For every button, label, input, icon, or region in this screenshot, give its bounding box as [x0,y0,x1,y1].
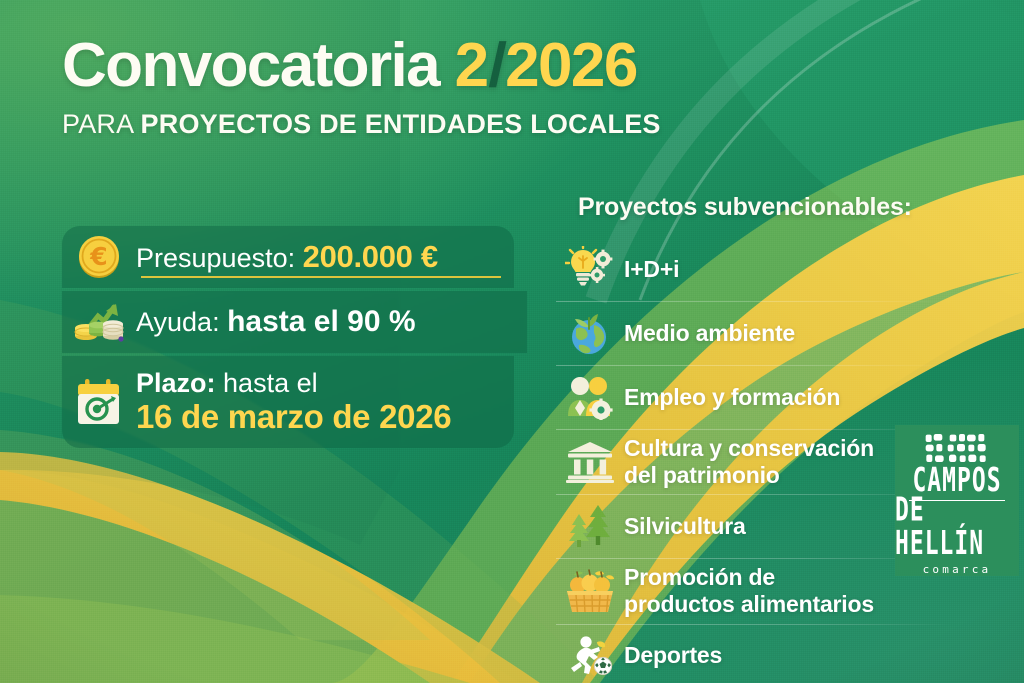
header: Convocatoria 2/2026 PARA PROYECTOS DE EN… [62,34,842,140]
museum-columns-icon [556,441,624,483]
plazo-label: Plazo: [136,368,216,398]
logo-word-comarca: comarca [923,563,992,576]
poster-canvas: Convocatoria 2/2026 PARA PROYECTOS DE EN… [0,0,1024,683]
campos-de-hellin-logo: CAMPOS DE HELLÍN comarca [895,425,1019,576]
euro-coin-icon: € [62,232,136,282]
list-item[interactable]: Empleo y formación [556,365,976,429]
panel-row-ayuda-text: Ayuda: hasta el 90 % [136,305,527,339]
title-year: 2026 [505,31,637,100]
svg-text:€: € [89,242,107,271]
fruit-basket-icon [556,567,624,615]
list-item-line1: Medio ambiente [624,320,795,347]
list-item-line1: Empleo y formación [624,384,840,411]
list-item[interactable]: Medio ambiente [556,301,976,365]
title-main-text: Convocatoria [62,31,439,100]
panel-row-ayuda: Ayuda: hasta el 90 % [62,291,527,353]
people-gear-icon [556,374,624,420]
list-item-line1: I+D+i [624,256,679,283]
list-item-line1: Cultura y conservación [624,435,874,462]
list-item-label: Empleo y formación [624,384,840,411]
list-item-line1: Deportes [624,642,722,669]
runner-ball-icon [556,635,624,677]
logo-word-campos: CAMPOS [912,464,1001,497]
list-item[interactable]: Deportes [556,624,976,683]
list-item[interactable]: I+D+i [556,237,976,301]
ayuda-label: Ayuda: [136,307,220,337]
title-number: 2 [455,31,488,100]
subtitle-light-text: PARA [62,109,141,139]
list-item-label: Deportes [624,642,722,669]
page-title: Convocatoria 2/2026 [62,34,842,97]
lightbulb-gears-icon [556,246,624,292]
list-item-label: Silvicultura [624,513,746,540]
list-item-line1: Promoción de [624,564,874,591]
list-item-label: I+D+i [624,256,679,283]
subtitle-bold-text: PROYECTOS DE ENTIDADES LOCALES [141,109,661,139]
list-item-label: Medio ambiente [624,320,795,347]
presupuesto-label: Presupuesto: [136,243,295,273]
list-item-label: Cultura y conservación del patrimonio [624,435,874,488]
title-slash: / [486,34,506,97]
panel-row-presupuesto: € Presupuesto: 200.000 € [62,226,514,288]
calendar-target-icon [62,375,136,429]
logo-word-de-hellin: DE HELLÍN [895,495,1019,562]
list-item-line2: del patrimonio [624,462,874,489]
panel-row-presupuesto-text: Presupuesto: 200.000 € [136,240,514,275]
money-growth-icon [62,298,136,346]
page-subtitle: PARA PROYECTOS DE ENTIDADES LOCALES [62,109,842,140]
globe-leaf-icon [556,309,624,357]
logo-mosaic-icon [910,434,1004,465]
panel-row-plazo: Plazo: hasta el 16 de marzo de 2026 [62,356,514,448]
ayuda-value: hasta el 90 % [227,305,415,338]
list-item-line2: productos alimentarios [624,591,874,618]
pine-trees-icon [556,503,624,549]
list-item-label: Promoción de productos alimentarios [624,564,874,617]
eligible-projects-heading: Proyectos subvencionables: [578,193,976,222]
presupuesto-underline [141,276,501,278]
plazo-value-line2: 16 de marzo de 2026 [136,399,504,436]
plazo-value-line1: hasta el [223,368,318,398]
panel-row-plazo-text: Plazo: hasta el 16 de marzo de 2026 [136,368,514,435]
presupuesto-value: 200.000 € [303,239,438,274]
key-figures-panel: € Presupuesto: 200.000 € [62,226,527,448]
list-item-line1: Silvicultura [624,513,746,540]
